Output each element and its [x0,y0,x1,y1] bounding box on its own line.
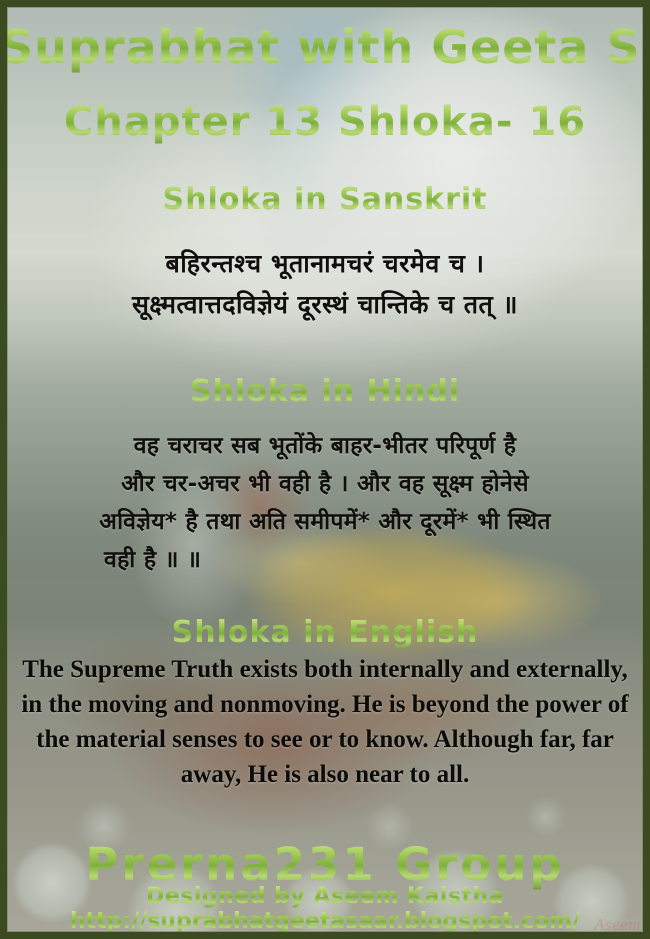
geeta-saar-poster: Suprabhat with Geeta Saar Chapter 13 Shl… [0,0,650,939]
sanskrit-verse-line: सूक्ष्मत्वात्तदविज्ञेयं दूरस्थं चान्तिके… [22,284,628,325]
siteurl-wrap: http://suprabhatgeetasaar.blogspot.com/ [70,909,580,934]
siteurl-text: http://suprabhatgeetasaar.blogspot.com/ [70,909,580,934]
hindi-verse-block: वह चराचर सब भूतोंके बाहर-भीतर परिपूर्ण ह… [0,427,650,579]
section-heading-sanskrit: Shloka in Sanskrit [0,182,650,217]
watermark-text: Aseem [594,915,641,935]
title-sub-wrap: Chapter 13 Shloka- 16 [64,99,586,145]
heading-english-wrap: Shloka in English [172,615,479,650]
section-heading-english: Shloka in English [0,615,650,650]
page-title: Suprabhat with Geeta Saar [0,20,650,74]
hindi-verse-line: वह चराचर सब भूतोंके बाहर-भीतर परिपूर्ण ह… [24,427,626,465]
english-translation-text: The Supreme Truth exists both internally… [18,652,632,792]
sanskrit-verse-block: बहिरन्तश्च भूतानामचरं चरमेव च । सूक्ष्मत… [0,243,650,325]
title-main-text: Suprabhat with Geeta Saar [0,20,650,74]
heading-sanskrit-wrap: Shloka in Sanskrit [162,182,487,217]
heading-english-text: Shloka in English [172,615,479,650]
hindi-verse-line: और चर-अचर भी वही है । और वह सूक्ष्म होने… [24,465,626,503]
heading-hindi-text: Shloka in Hindi [190,374,460,409]
blog-url-link[interactable]: http://suprabhatgeetasaar.blogspot.com/ [0,909,650,934]
poster-content: Suprabhat with Geeta Saar Chapter 13 Shl… [0,0,650,939]
hindi-verse-line: वही है ॥ ॥ [24,541,626,579]
credit-wrap: Designed by Aseem Kaistha [146,884,504,909]
chapter-shloka-subtitle: Chapter 13 Shloka- 16 [0,99,650,145]
section-heading-hindi: Shloka in Hindi [0,374,650,409]
heading-hindi-wrap: Shloka in Hindi [190,374,460,409]
heading-sanskrit-text: Shloka in Sanskrit [162,182,487,217]
designer-credit: Designed by Aseem Kaistha [0,884,650,909]
sanskrit-verse-line: बहिरन्तश्च भूतानामचरं चरमेव च । [22,243,628,284]
credit-text: Designed by Aseem Kaistha [146,884,504,909]
title-sub-text: Chapter 13 Shloka- 16 [64,99,586,145]
hindi-verse-line: अविज्ञेय* है तथा अति समीपमें* और दूरमें*… [24,503,626,541]
title-main-wrap: Suprabhat with Geeta Saar [0,20,650,74]
